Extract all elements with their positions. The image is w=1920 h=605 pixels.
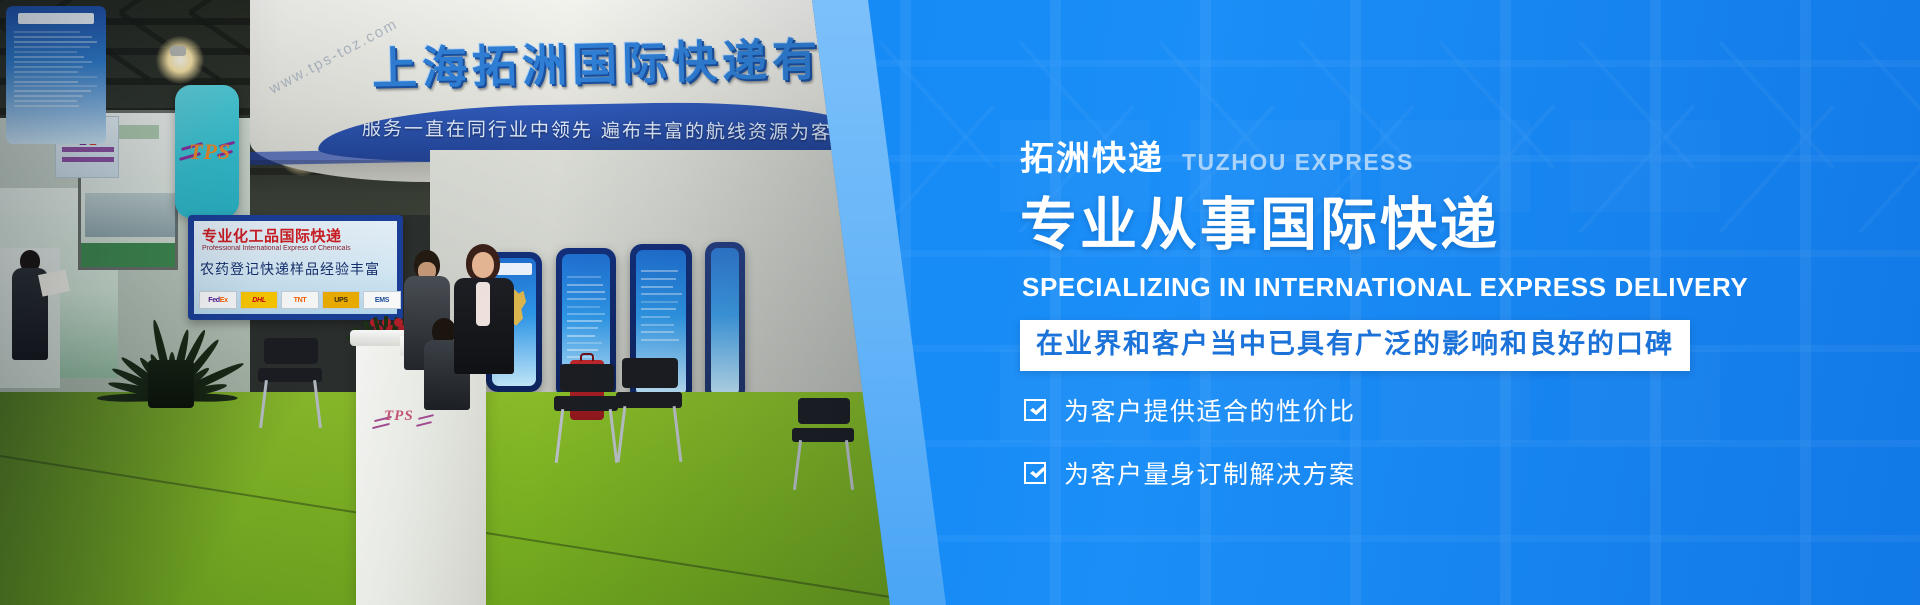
lightbox-flow-line xyxy=(641,339,679,341)
profile-text-line xyxy=(14,36,92,38)
profile-text-line xyxy=(14,81,78,83)
ceiling-lamp-body xyxy=(170,46,186,56)
profile-text-line xyxy=(14,105,79,107)
profile-text-line xyxy=(14,56,84,58)
poster-subtitle-cn: 农药登记快递样品经验丰富 xyxy=(200,259,391,279)
highlight-box: 在业界和客户当中已具有广泛的影响和良好的口碑 xyxy=(1020,320,1690,371)
lightbox-text-line xyxy=(567,298,606,300)
lightbox-flow-line xyxy=(641,301,678,303)
checkbox-checked-icon xyxy=(1024,399,1046,421)
profile-text-line xyxy=(14,46,90,48)
lightbox-text-line xyxy=(567,313,605,315)
booth-sign-character: 递 xyxy=(722,38,769,84)
profile-text-line xyxy=(14,85,97,87)
rack-brace xyxy=(879,104,996,233)
hero-banner: www.tps-toz.com 上海拓洲国际快递有限公司 服务一直在同行业中领先… xyxy=(0,0,1920,605)
profile-text-line xyxy=(14,76,97,78)
aisle-person xyxy=(10,250,50,360)
banner-content: 拓洲快递 TUZHOU EXPRESS 专业从事国际快递 SPECIALIZIN… xyxy=(1020,0,1920,605)
lightbox-text-line xyxy=(567,327,598,329)
lightbox-flow-line xyxy=(641,316,670,318)
booth-sign-character: 拓 xyxy=(472,43,519,89)
booth-sign-character: 上 xyxy=(372,45,419,91)
headline-cn: 专业从事国际快递 xyxy=(1020,196,1500,256)
lightbox-text-line xyxy=(567,335,595,337)
poster-title-cn: 专业化工品国际快递 xyxy=(202,225,389,246)
brand-name-cn: 拓洲快递 xyxy=(1020,142,1164,176)
tps-logo-plate: TPS xyxy=(175,85,239,218)
booth-sign-character: 洲 xyxy=(522,42,569,88)
profile-text-line xyxy=(14,71,78,73)
booth-top-sign: 上海拓洲国际快递有限公司 xyxy=(371,24,802,105)
tnt-logo-icon: TNT xyxy=(281,291,319,309)
lightbox-flow-line xyxy=(641,286,673,288)
bullet-label: 为客户量身订制解决方案 xyxy=(1064,455,1356,491)
highlight-text: 在业界和客户当中已具有广泛的影响和良好的口碑 xyxy=(1036,330,1674,360)
bullet-label: 为客户提供适合的性价比 xyxy=(1064,392,1356,428)
feature-bullet-list: 为客户提供适合的性价比 为客户量身订制解决方案 xyxy=(1024,392,1356,518)
exhibition-booth-photo: www.tps-toz.com 上海拓洲国际快递有限公司 服务一直在同行业中领先… xyxy=(0,0,900,605)
lightbox-text-line xyxy=(567,291,605,293)
subheadline-en: SPECIALIZING IN INTERNATIONAL EXPRESS DE… xyxy=(1022,272,1748,303)
profile-text-line xyxy=(14,51,77,53)
profile-text-line xyxy=(14,41,97,43)
lightbox-text-line xyxy=(567,284,603,286)
tps-logo-text: TPS xyxy=(189,139,231,165)
profile-text-line xyxy=(14,95,83,97)
lightbox-text-line xyxy=(567,306,601,308)
company-profile-lightbox xyxy=(0,0,112,150)
profile-text-line xyxy=(14,100,77,102)
lightbox-flow-line xyxy=(641,293,682,295)
lightbox-flow-line xyxy=(641,270,678,272)
lightbox-text-line xyxy=(567,342,602,344)
plant-pot xyxy=(148,360,194,408)
lightbox-extra xyxy=(705,242,745,402)
poster-title-en: Professional International Express of Ch… xyxy=(202,245,389,252)
booth-sign-character: 国 xyxy=(572,41,619,87)
counter-logo-text: TPS xyxy=(384,408,414,425)
profile-text-line xyxy=(14,66,83,68)
lightbox-flow-line xyxy=(641,324,674,326)
lightbox-flow-line xyxy=(641,331,674,333)
profile-text-line xyxy=(14,61,92,63)
lightbox-flow-line xyxy=(641,308,676,310)
lightbox-text-line xyxy=(567,276,601,278)
booth-sign-character: 快 xyxy=(672,39,719,85)
ups-logo-icon: UPS xyxy=(322,291,360,309)
profile-text-line xyxy=(14,90,91,92)
lightbox-text-line xyxy=(567,320,602,322)
staff-person xyxy=(452,244,516,374)
profile-text-line xyxy=(14,31,80,33)
ceiling-lamp-glow xyxy=(156,36,204,84)
booth-sign-character: 海 xyxy=(422,44,469,90)
dhl-logo-icon: DHL xyxy=(240,291,278,309)
list-item: 为客户量身订制解决方案 xyxy=(1024,455,1356,491)
lightbox-flow-line xyxy=(641,278,676,280)
lightbox-text-line xyxy=(567,349,598,351)
brand-name-en: TUZHOU EXPRESS xyxy=(1182,151,1414,176)
booth-sign-character: 有 xyxy=(772,37,819,83)
brand-row: 拓洲快递 TUZHOU EXPRESS xyxy=(1020,142,1414,176)
booth-slogan-text: 服务一直在同行业中领先 遍布丰富的航线资源为客户带来极大的便利 xyxy=(362,114,879,147)
list-item: 为客户提供适合的性价比 xyxy=(1024,392,1356,428)
booth-sign-character: 际 xyxy=(622,40,669,86)
checkbox-checked-icon xyxy=(1024,462,1046,484)
